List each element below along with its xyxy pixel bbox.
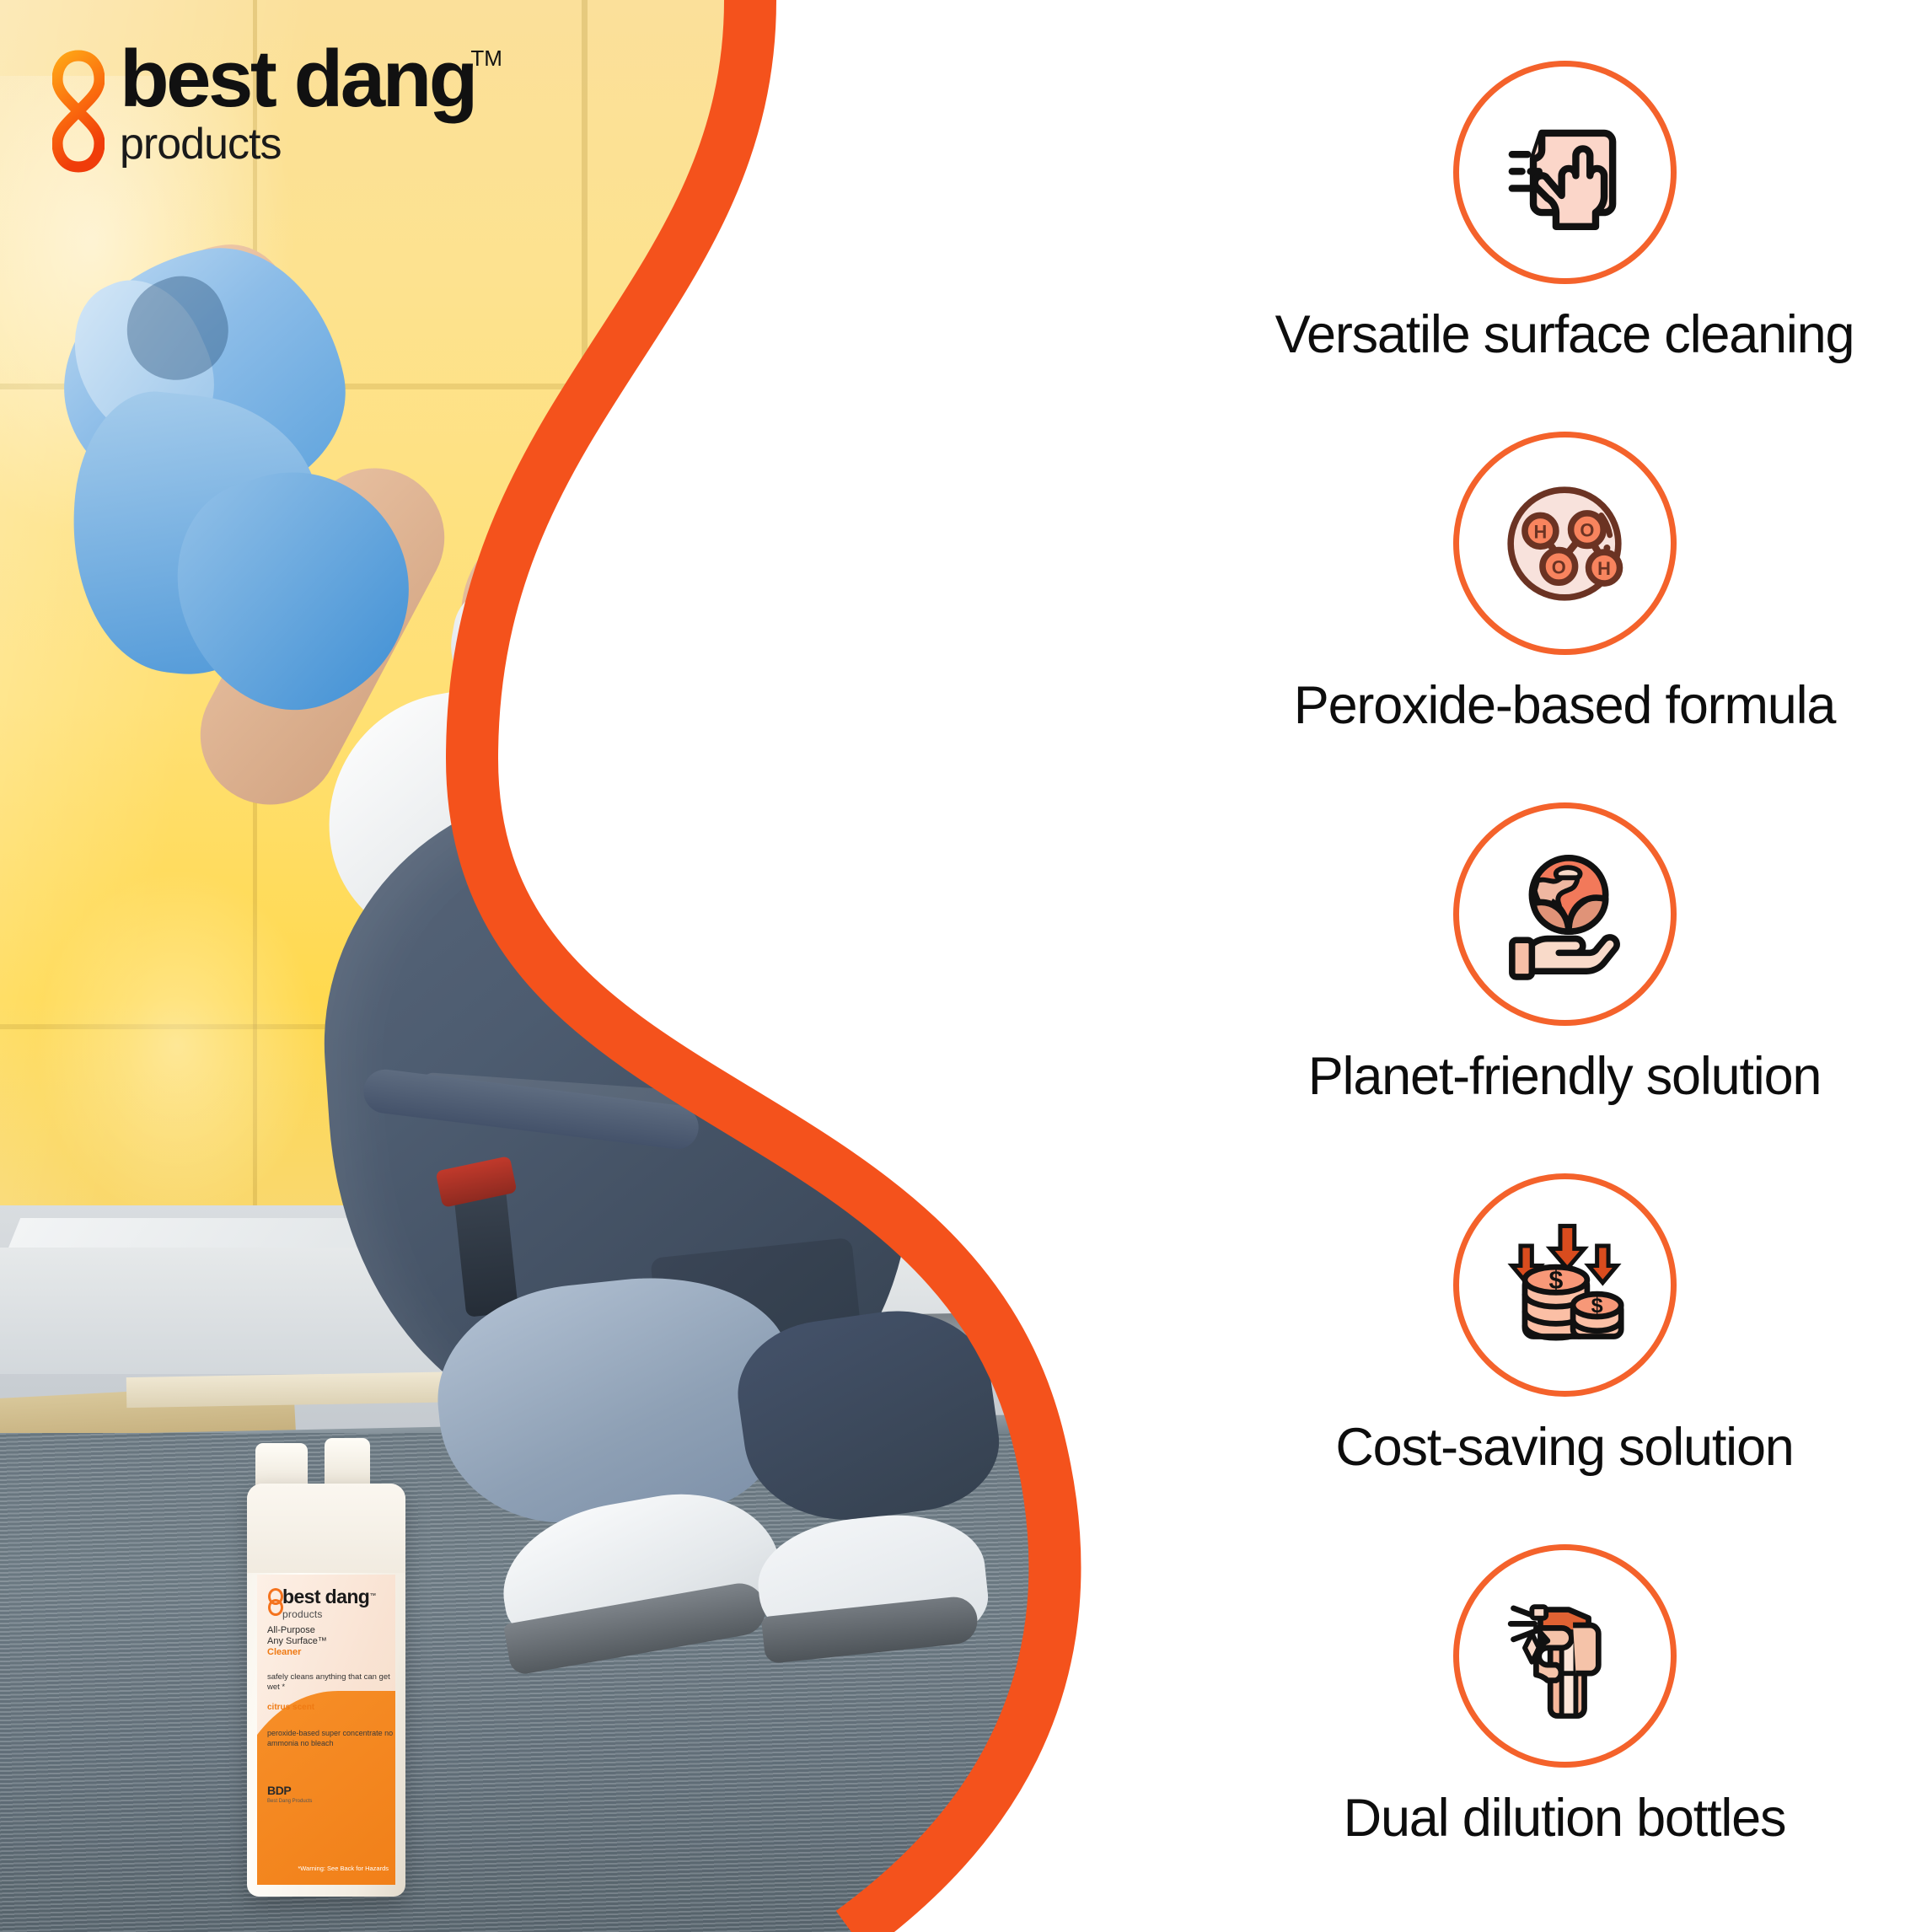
photo-background-column: [843, 0, 990, 1315]
bottle-brand-line1: best dang: [282, 1586, 369, 1607]
feature-item-dual-dilution-bottles[interactable]: Dual dilution bottles: [1197, 1544, 1932, 1849]
svg-text:$: $: [1549, 1266, 1564, 1294]
hand-spray-bottle-icon: [1453, 1544, 1677, 1768]
bottle-infinity-mark-icon: [267, 1588, 279, 1613]
feature-item-peroxide-based-formula[interactable]: H O O H Peroxide-based formula: [1197, 432, 1932, 736]
feature-item-planet-friendly-solution[interactable]: Planet-friendly solution: [1197, 802, 1932, 1107]
bottle-company-mark: BDP: [267, 1784, 291, 1797]
photo-teal-bottle: [1066, 1484, 1127, 1644]
bottle-shoulder: [247, 1484, 405, 1573]
hand-holding-globe-leaf-icon: [1453, 802, 1677, 1026]
feature-label: Versatile surface cleaning: [1275, 304, 1854, 365]
svg-text:H: H: [1534, 521, 1548, 542]
photo-person-hair-back: [507, 563, 783, 936]
coin-stack-down-arrows-icon: $ $: [1453, 1173, 1677, 1397]
bottle-specs: peroxide-based super concentrate no ammo…: [267, 1728, 395, 1748]
bottle-company-sub: Best Dang Products: [267, 1799, 312, 1804]
photo-wall-highlight-2: [34, 868, 320, 1222]
bottle-logo: best dang™ products: [267, 1588, 376, 1620]
bottle-brand-line2: products: [282, 1608, 376, 1620]
brand-trademark: TM: [470, 46, 502, 72]
svg-text:H: H: [1597, 557, 1611, 578]
bottle-trademark: ™: [369, 1592, 376, 1600]
bottle-label: best dang™ products All-Purpose Any Surf…: [257, 1575, 395, 1885]
svg-text:O: O: [1580, 519, 1594, 540]
brand-name: best dang: [120, 40, 475, 117]
bottle-product-type: Cleaner: [267, 1647, 301, 1657]
photo-column-edge: [894, 0, 909, 1315]
photo-rail-bolt-right: [986, 1325, 1028, 1360]
feature-label: Planet-friendly solution: [1308, 1046, 1822, 1107]
brand-logo: best dang TM products: [52, 40, 475, 174]
svg-text:O: O: [1552, 556, 1566, 577]
feature-item-versatile-surface-cleaning[interactable]: Versatile surface cleaning: [1197, 61, 1932, 365]
feature-label: Peroxide-based formula: [1294, 675, 1835, 736]
hand-wiping-cloth-icon: [1453, 61, 1677, 284]
svg-text:$: $: [1591, 1293, 1603, 1317]
brand-wordmark: best dang TM products: [120, 40, 475, 169]
photo-person-mask-strap: [544, 572, 592, 598]
bottle-product-name: All-Purpose Any Surface™: [267, 1625, 327, 1648]
photo-person-neck: [464, 664, 607, 786]
bottle-scent: citrus scent: [267, 1703, 314, 1712]
feature-list: Versatile surface cleaning H O O H Perox: [1197, 0, 1932, 1932]
bottle-claim: safely cleans anything that can get wet …: [267, 1672, 395, 1692]
feature-item-cost-saving-solution[interactable]: $ $ Cost-saving solution: [1197, 1173, 1932, 1478]
infinity-eight-mark-icon: [52, 49, 105, 174]
feature-label: Cost-saving solution: [1335, 1417, 1793, 1478]
product-bottle: best dang™ products All-Purpose Any Surf…: [247, 1484, 405, 1897]
feature-label: Dual dilution bottles: [1344, 1788, 1786, 1849]
bottle-footnote: *Warning: See Back for Hazards: [298, 1865, 389, 1873]
product-photo: best dang™ products All-Purpose Any Surf…: [0, 0, 1180, 1932]
h2o2-molecule-icon: H O O H: [1453, 432, 1677, 655]
photo-teal-bottle-neck: [1079, 1450, 1113, 1494]
brand-subname: products: [120, 119, 475, 169]
